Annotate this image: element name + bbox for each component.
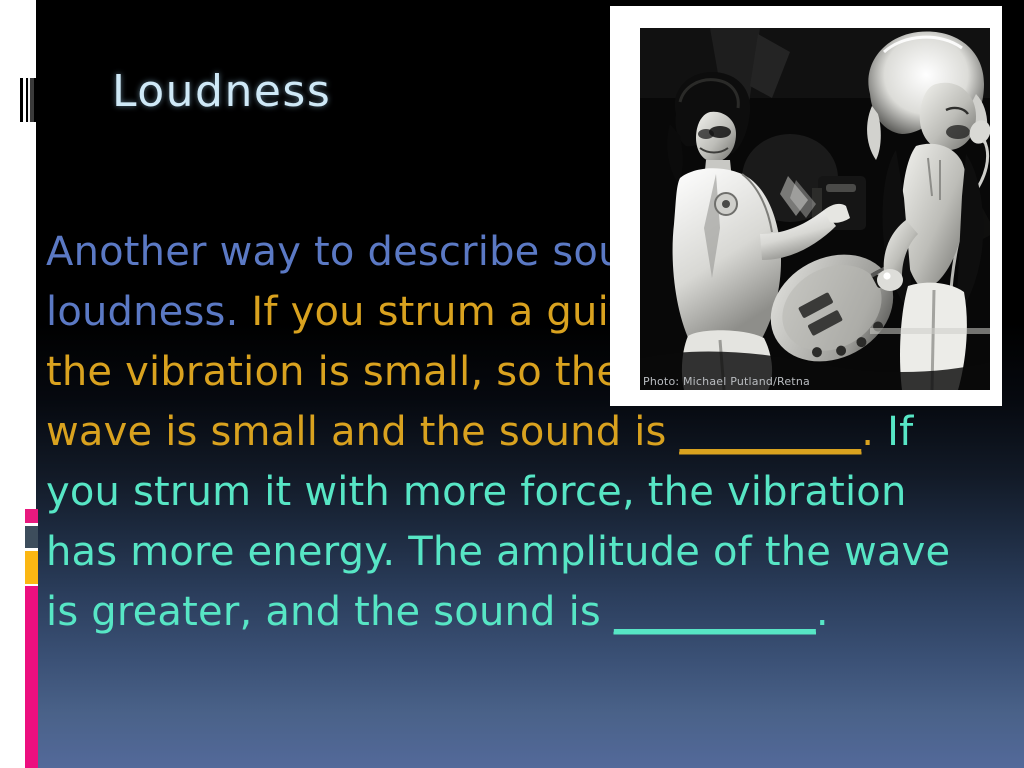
concert-photo-illustration: [640, 28, 990, 390]
photo-frame: Photo: Michael Putland/Retna: [611, 7, 1001, 405]
segment-pink-top: [25, 509, 38, 523]
segment-pink-long: [25, 586, 38, 768]
concert-photo: [640, 28, 990, 390]
photo-credit: Photo: Michael Putland/Retna: [643, 375, 810, 388]
page-title: Loudness: [112, 66, 331, 117]
fill-in-blank-1: _________: [679, 409, 861, 455]
segment-slate: [25, 526, 38, 548]
body-segment-teal-2: .: [816, 589, 829, 635]
body-segment-gold-2: .: [861, 409, 887, 455]
slide: Loudness Another way to describe sound i…: [0, 0, 1024, 768]
segment-gold: [25, 551, 38, 584]
color-segment-bar-decoration: [25, 509, 38, 768]
fill-in-blank-2: __________: [614, 589, 816, 635]
barcode-decoration-icon: [18, 78, 44, 122]
